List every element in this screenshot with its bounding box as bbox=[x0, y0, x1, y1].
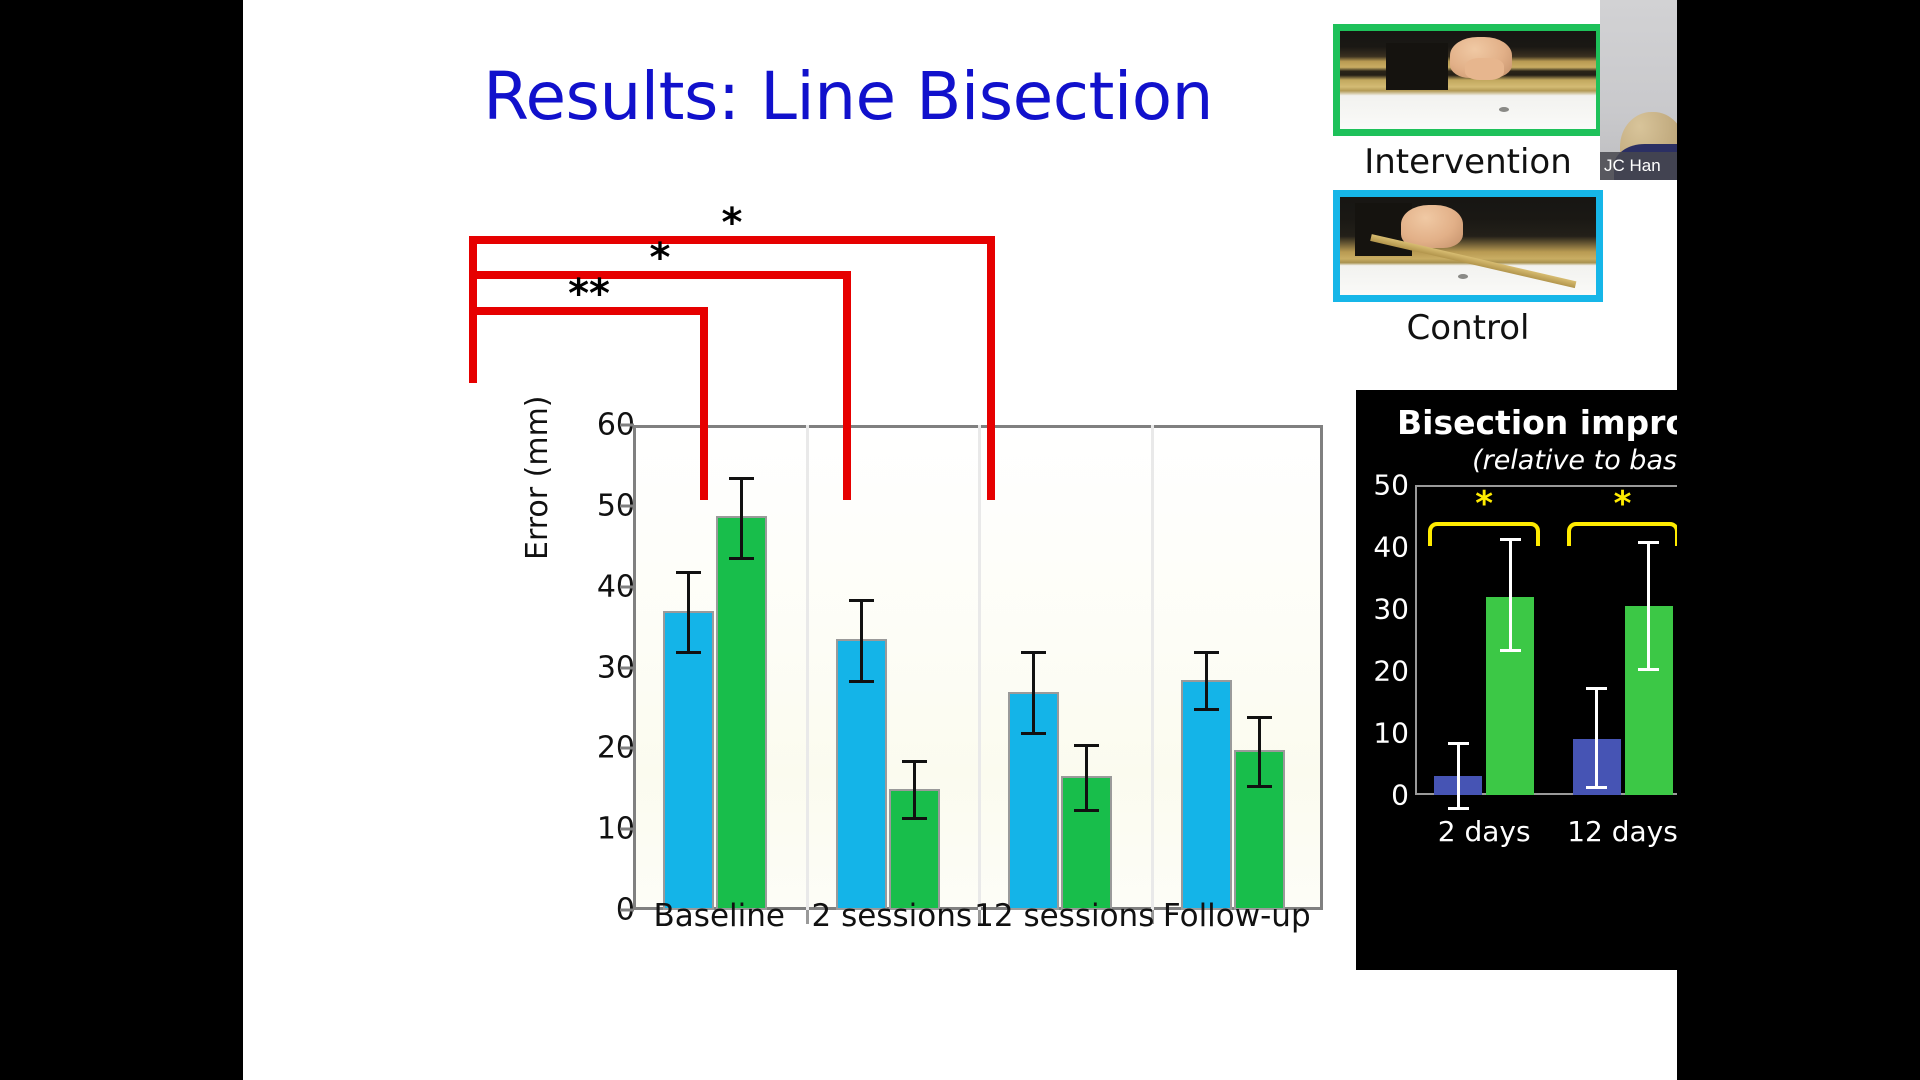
inset-x-category-label: 12 days bbox=[1567, 815, 1678, 848]
error-bar-cap bbox=[1247, 785, 1272, 788]
inset-significance-brace bbox=[1567, 522, 1679, 546]
page-title: Results: Line Bisection bbox=[243, 58, 1453, 135]
error-bar-cap bbox=[849, 680, 874, 683]
inset-significance-star: * bbox=[1614, 487, 1632, 521]
webcam-participant-tile[interactable]: JC Han bbox=[1600, 0, 1677, 180]
inset-error-bar-cap bbox=[1586, 786, 1607, 789]
bar-control bbox=[1181, 680, 1232, 910]
x-divider bbox=[1151, 425, 1154, 910]
intervention-video-thumbnail[interactable] bbox=[1333, 24, 1603, 136]
y-tick-mark bbox=[620, 909, 634, 912]
x-category-label: Follow-up bbox=[1163, 898, 1311, 934]
x-tick-mark bbox=[806, 910, 809, 924]
inset-y-tick-label: 40 bbox=[1359, 531, 1409, 564]
inset-error-bar bbox=[1595, 687, 1598, 786]
presentation-slide: Results: Line Bisection Error (mm) 01020… bbox=[243, 0, 1677, 1080]
hand-on-rod-photo bbox=[1340, 31, 1596, 129]
inset-y-tick-label: 10 bbox=[1359, 717, 1409, 750]
bar-intervention bbox=[716, 516, 767, 910]
error-bar-cap bbox=[1074, 744, 1099, 747]
error-bar-cap bbox=[1194, 708, 1219, 711]
inset-error-bar bbox=[1647, 541, 1650, 668]
error-bar bbox=[1258, 716, 1261, 785]
inset-error-bar bbox=[1457, 742, 1460, 807]
error-bar-cap bbox=[1247, 716, 1272, 719]
error-bar-cap bbox=[729, 477, 754, 480]
x-category-label: 12 sessions bbox=[974, 898, 1154, 934]
error-bar-cap bbox=[849, 599, 874, 602]
error-bar bbox=[687, 571, 690, 652]
significance-star-outer: * bbox=[722, 203, 743, 243]
y-tick-mark bbox=[620, 424, 634, 427]
inset-y-tick-label: 50 bbox=[1359, 469, 1409, 502]
error-bar-cap bbox=[676, 571, 701, 574]
y-tick-mark bbox=[620, 666, 634, 669]
error-bar-cap bbox=[729, 557, 754, 560]
bar-control bbox=[663, 611, 714, 910]
y-tick-mark bbox=[620, 747, 634, 750]
error-bar-cap bbox=[1074, 809, 1099, 812]
x-divider bbox=[978, 425, 981, 910]
inset-y-tick-label: 20 bbox=[1359, 655, 1409, 688]
hand-tilting-rod-photo bbox=[1340, 197, 1596, 295]
main-bar-chart: Error (mm) 0102030405060 Baseline2 sessi… bbox=[528, 400, 1338, 920]
inset-y-tick-label: 30 bbox=[1359, 593, 1409, 626]
error-bar bbox=[1205, 651, 1208, 708]
inset-error-bar bbox=[1509, 538, 1512, 650]
inset-significance-brace bbox=[1428, 522, 1540, 546]
webcam-participant-name: JC Han bbox=[1600, 152, 1677, 180]
significance-star-inner: ** bbox=[568, 274, 610, 314]
error-bar bbox=[1032, 651, 1035, 732]
x-category-label: Baseline bbox=[654, 898, 785, 934]
significance-star-middle: * bbox=[650, 238, 671, 278]
letterbox-right bbox=[1677, 0, 1920, 1080]
inset-significance-star: * bbox=[1475, 487, 1493, 521]
inset-error-bar-cap bbox=[1638, 668, 1659, 671]
error-bar bbox=[913, 760, 916, 817]
error-bar-cap bbox=[1021, 732, 1046, 735]
error-bar bbox=[860, 599, 863, 680]
error-bar-cap bbox=[676, 651, 701, 654]
y-axis-label: Error (mm) bbox=[520, 395, 555, 560]
y-tick-mark bbox=[620, 504, 634, 507]
inset-error-bar-cap bbox=[1586, 687, 1607, 690]
screen: Results: Line Bisection Error (mm) 01020… bbox=[0, 0, 1920, 1080]
inset-error-bar-cap bbox=[1448, 742, 1469, 745]
error-bar-cap bbox=[902, 817, 927, 820]
inset-error-bar-cap bbox=[1500, 649, 1521, 652]
inset-error-bar-cap bbox=[1448, 807, 1469, 810]
inset-y-tick-label: 0 bbox=[1359, 779, 1409, 812]
error-bar-cap bbox=[1021, 651, 1046, 654]
letterbox-left bbox=[0, 0, 243, 1080]
error-bar bbox=[740, 477, 743, 557]
x-divider bbox=[806, 425, 809, 910]
x-category-label: 2 sessions bbox=[812, 898, 972, 934]
control-caption: Control bbox=[1333, 308, 1603, 348]
intervention-caption: Intervention bbox=[1333, 142, 1603, 182]
error-bar bbox=[1085, 744, 1088, 809]
inset-x-category-label: 2 days bbox=[1438, 815, 1531, 848]
y-tick-mark bbox=[620, 585, 634, 588]
y-tick-mark bbox=[620, 828, 634, 831]
error-bar-cap bbox=[902, 760, 927, 763]
control-video-thumbnail[interactable] bbox=[1333, 190, 1603, 302]
error-bar-cap bbox=[1194, 651, 1219, 654]
